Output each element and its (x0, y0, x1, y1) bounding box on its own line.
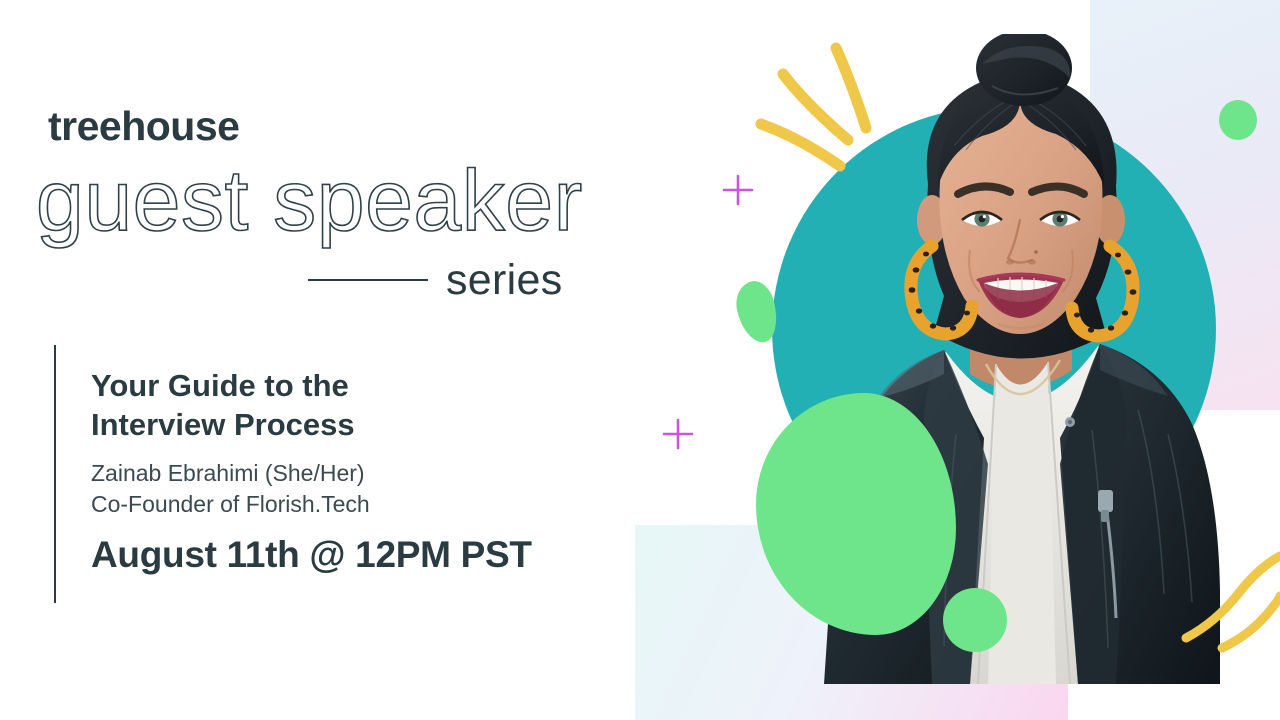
speaker-name: Zainab Ebrahimi (She/Her) (91, 458, 651, 489)
event-datetime: August 11th @ 12PM PST (91, 535, 651, 576)
event-info-block: Your Guide to the Interview Process Zain… (91, 366, 651, 576)
talk-title-line-1: Your Guide to the (91, 366, 651, 405)
series-label-row: series (308, 255, 628, 305)
plus-icon-upper (724, 176, 752, 204)
series-divider-rule (308, 279, 428, 281)
slide-canvas: treehouse guest speaker series Your Guid… (0, 0, 1280, 720)
series-headline: guest speaker (36, 156, 583, 246)
talk-title: Your Guide to the Interview Process (91, 366, 651, 444)
green-dot-top-right (1219, 100, 1257, 140)
speaker-details: Zainab Ebrahimi (She/Her) Co-Founder of … (91, 458, 651, 519)
treehouse-wordmark: treehouse (48, 106, 239, 147)
green-dot (943, 588, 1007, 652)
talk-title-line-2: Interview Process (91, 405, 651, 444)
series-label: series (446, 259, 563, 302)
speaker-role: Co-Founder of Florish.Tech (91, 489, 651, 520)
content-column: treehouse guest speaker series Your Guid… (0, 0, 680, 720)
event-info-vertical-rule (54, 345, 56, 603)
